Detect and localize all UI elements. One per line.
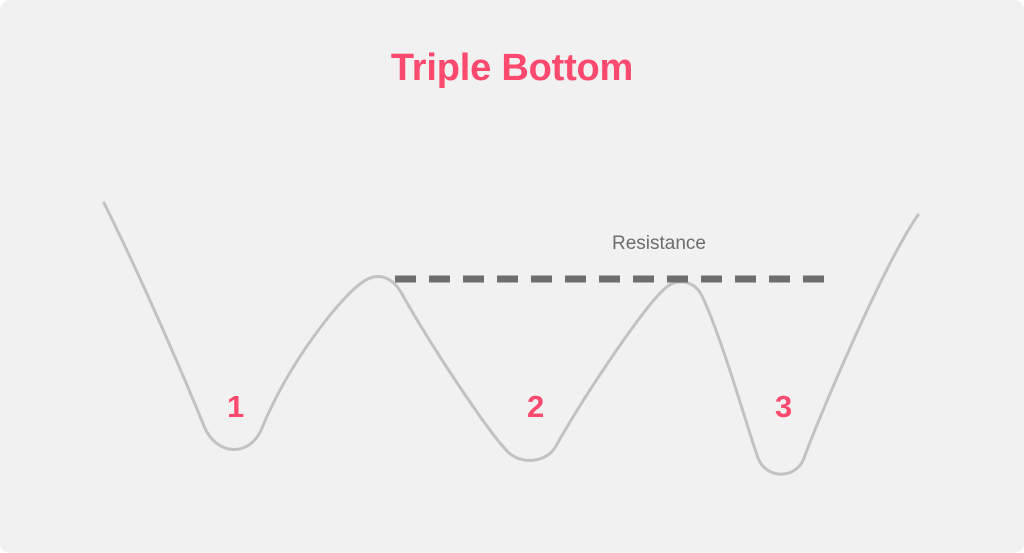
resistance-label: Resistance <box>612 233 706 255</box>
plot-area <box>0 0 1024 553</box>
trough-label-1: 1 <box>227 389 244 425</box>
price-line <box>104 203 918 474</box>
trough-label-2: 2 <box>527 389 544 425</box>
trough-label-3: 3 <box>775 389 792 425</box>
chart-figure: Triple Bottom Resistance 1 2 3 <box>0 0 1024 553</box>
